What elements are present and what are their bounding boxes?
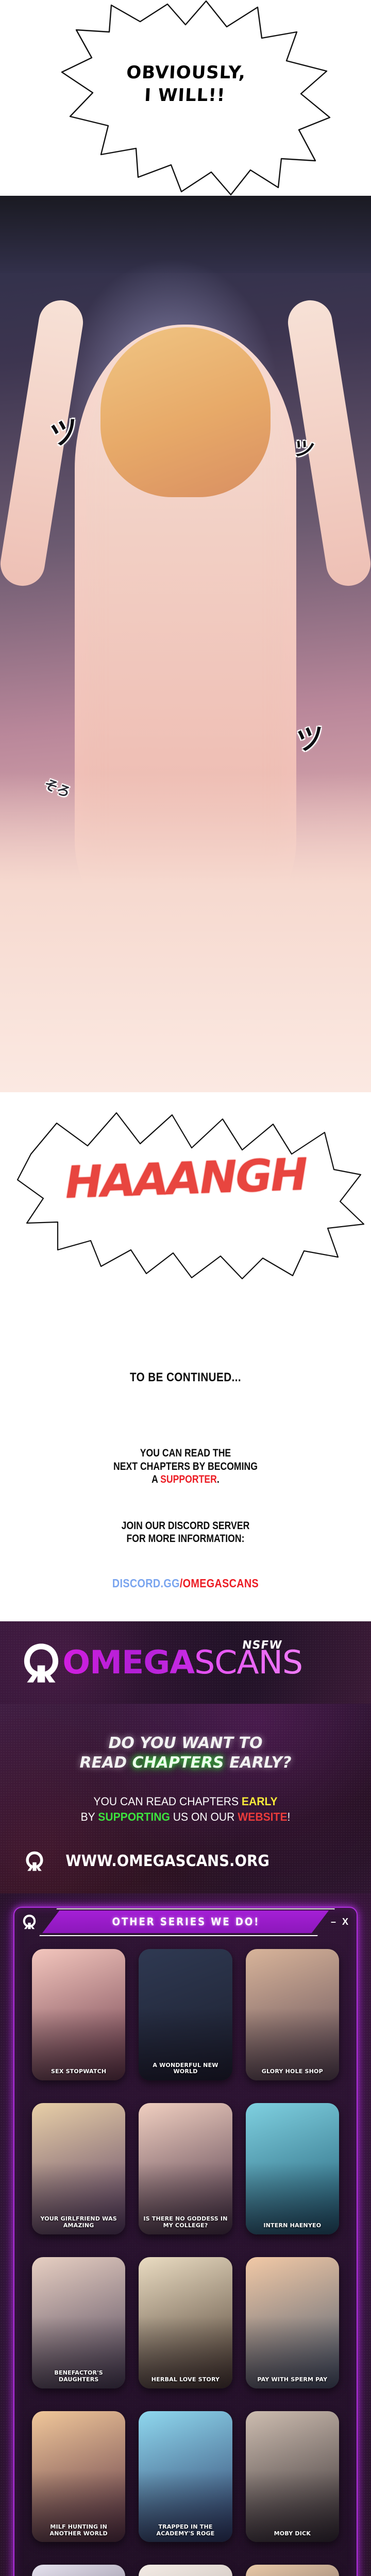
promo-headline-line-2: READ CHAPTERS EARLY? <box>0 1753 371 1773</box>
to-be-continued-title: TO BE CONTINUED... <box>26 1370 345 1385</box>
other-series-title: OTHER SERIES WE DO! <box>112 1916 260 1928</box>
promo-subtext: YOU CAN READ CHAPTERS EARLY BY SUPPORTIN… <box>7 1794 363 1824</box>
promo-sub-us: US ON OUR <box>170 1810 238 1823</box>
promo-website-link[interactable]: WWW.OMEGASCANS.ORG <box>0 1849 371 1873</box>
other-series-section: OTHER SERIES WE DO! – X SEX STOPWATCHA W… <box>0 1893 371 2576</box>
close-icon[interactable]: X <box>342 1917 348 1926</box>
series-cover-shade <box>139 2257 232 2388</box>
series-cover-shade <box>246 2103 339 2234</box>
series-title: TRAPPED IN THE ACADEMY'S ROGE <box>142 2524 229 2537</box>
series-thumbnail[interactable]: MILF HUNTING IN ANOTHER WORLD <box>32 2411 125 2543</box>
supporter-highlight: SUPPORTER <box>160 1473 217 1485</box>
character-hair <box>100 327 271 497</box>
series-cover-shade <box>139 2411 232 2543</box>
series-title: A WONDERFUL NEW WORLD <box>142 2062 229 2075</box>
series-grid: SEX STOPWATCHA WONDERFUL NEW WORLDGLORY … <box>14 1936 357 2576</box>
promo-sub-a: YOU CAN READ CHAPTERS <box>93 1795 242 1808</box>
series-title: GLORY HOLE SHOP <box>249 2069 336 2075</box>
promo-url-text: WWW.OMEGASCANS.ORG <box>65 1852 269 1870</box>
early-access-promo: DO YOU WANT TO READ CHAPTERS EARLY? YOU … <box>0 1704 371 1893</box>
series-title: MILF HUNTING IN ANOTHER WORLD <box>35 2524 122 2537</box>
series-cover-shade <box>246 1949 339 2080</box>
supporter-line-1: YOU CAN READ THE <box>30 1447 342 1460</box>
omega-logo-icon <box>18 1639 65 1686</box>
character-arm-right <box>285 297 371 589</box>
omega-word: OMEGA <box>62 1643 194 1681</box>
series-cover-shade <box>32 2565 125 2576</box>
supporter-suffix: . <box>217 1473 220 1485</box>
series-cover-shade <box>32 1949 125 2080</box>
sfx-glyph-mid-right: ツ <box>295 714 324 759</box>
series-title: BENEFACTOR'S DAUGHTERS <box>35 2370 122 2383</box>
omega-logo-icon <box>23 1849 46 1873</box>
spacer <box>0 1486 371 1519</box>
promo-headline-line-1: DO YOU WANT TO <box>0 1734 371 1753</box>
series-thumbnail[interactable]: GLORY HOLE SHOP <box>246 1949 339 2080</box>
promo-read: READ <box>80 1754 132 1772</box>
discord-path: /OMEGASCANS <box>180 1577 259 1590</box>
supporter-line-3: A SUPPORTER. <box>30 1473 342 1486</box>
supporter-message: YOU CAN READ THE NEXT CHAPTERS BY BECOMI… <box>30 1447 342 1486</box>
series-cover-shade <box>139 2103 232 2234</box>
panel-foreground-wash <box>0 773 371 1092</box>
series-thumbnail[interactable]: TRAPPED IN THE ACADEMY'S ROGE <box>139 2411 232 2543</box>
window-controls: – X <box>331 1917 348 1926</box>
series-thumbnail[interactable]: A WONDERFUL NEW WORLD <box>139 1949 232 2080</box>
comic-panel-artwork: ツ ツ ツ そろ <box>0 196 371 1092</box>
promo-sub-website: WEBSITE <box>238 1810 287 1823</box>
series-cover-shade <box>246 2565 339 2576</box>
series-thumbnail[interactable]: IS THERE NO GODDESS IN MY COLLEGE? <box>139 2103 232 2234</box>
series-cover-shade <box>246 2257 339 2388</box>
discord-message: JOIN OUR DISCORD SERVER FOR MORE INFORMA… <box>30 1519 342 1546</box>
promo-sub-early: EARLY <box>242 1795 278 1808</box>
promo-sub-supporting: SUPPORTING <box>98 1810 170 1823</box>
series-cover-shade <box>139 1949 232 2080</box>
nsfw-badge: NSFW <box>241 1639 283 1652</box>
minimize-icon[interactable]: – <box>331 1917 336 1926</box>
discord-line-2: FOR MORE INFORMATION: <box>30 1532 342 1546</box>
series-thumbnail[interactable]: PAY WITH SPERM PAY <box>246 2257 339 2388</box>
discord-line-1: JOIN OUR DISCORD SERVER <box>30 1519 342 1533</box>
supporter-prefix: A <box>151 1473 160 1485</box>
series-title: HERBAL LOVE STORY <box>142 2377 229 2383</box>
series-cover-shade <box>246 2411 339 2543</box>
promo-sub-bang: ! <box>288 1810 291 1823</box>
to-be-continued-block: TO BE CONTINUED... YOU CAN READ THE NEXT… <box>0 1309 371 1621</box>
series-thumbnail[interactable]: MY ILLUSTRATOR <box>139 2565 232 2576</box>
series-thumbnail[interactable]: ISEKAI DRAGONDICK KNIGHT COMMANDER <box>32 2565 125 2576</box>
series-title: YOUR GIRLFRIEND WAS AMAZING <box>35 2216 122 2229</box>
comic-panel-sfx-burst: HAAANGH <box>0 1092 371 1309</box>
series-cover-shade <box>32 2103 125 2234</box>
comic-panel-speech-bubble: OBVIOUSLY, I WILL!! <box>0 0 371 196</box>
promo-headline: DO YOU WANT TO READ CHAPTERS EARLY? <box>0 1734 371 1773</box>
series-cover-shade <box>139 2565 232 2576</box>
omegascans-brand-banner: OMEGASCANS NSFW <box>0 1621 371 1704</box>
series-title: IS THERE NO GODDESS IN MY COLLEGE? <box>142 2216 229 2229</box>
other-series-titlebar: OTHER SERIES WE DO! – X <box>14 1908 357 1936</box>
series-cover-shade <box>32 2257 125 2388</box>
promo-sub-line-2: BY SUPPORTING US ON OUR WEBSITE! <box>7 1809 363 1825</box>
series-thumbnail[interactable]: SEX STOPWATCH <box>32 1949 125 2080</box>
series-thumbnail[interactable]: INTERN HAENYEO <box>246 2103 339 2234</box>
promo-sub-by: BY <box>81 1810 98 1823</box>
other-series-window: OTHER SERIES WE DO! – X SEX STOPWATCHA W… <box>13 1907 358 2576</box>
discord-invite-link[interactable]: DISCORD.GG/OMEGASCANS <box>26 1546 345 1590</box>
spacer <box>0 1385 371 1447</box>
series-thumbnail[interactable]: MOBY DICK <box>246 2411 339 2543</box>
series-thumbnail[interactable]: HERBAL LOVE STORY <box>139 2257 232 2388</box>
speech-bubble-text: OBVIOUSLY, I WILL!! <box>0 62 371 107</box>
series-title: MOBY DICK <box>249 2531 336 2537</box>
series-thumbnail[interactable]: YOUR GIRLFRIEND WAS AMAZING <box>32 2103 125 2234</box>
omega-logo-icon <box>21 1913 38 1930</box>
speech-line-1: OBVIOUSLY, <box>0 62 371 84</box>
discord-domain: DISCORD.GG <box>112 1577 180 1590</box>
series-thumbnail[interactable]: GOLDEN FACADE <box>246 2565 339 2576</box>
other-series-title-plate: OTHER SERIES WE DO! <box>42 1910 352 1933</box>
webtoon-page: OBVIOUSLY, I WILL!! ツ ツ ツ そろ HAAANGH TO … <box>0 0 371 2576</box>
speech-line-2: I WILL!! <box>0 84 371 107</box>
series-cover-shade <box>32 2411 125 2543</box>
series-title: PAY WITH SPERM PAY <box>249 2377 336 2383</box>
promo-early: EARLY? <box>224 1754 292 1772</box>
supporter-line-2: NEXT CHAPTERS BY BECOMING <box>30 1460 342 1473</box>
series-thumbnail[interactable]: BENEFACTOR'S DAUGHTERS <box>32 2257 125 2388</box>
series-title: INTERN HAENYEO <box>249 2223 336 2229</box>
series-title: SEX STOPWATCH <box>35 2069 122 2075</box>
promo-chapters: CHAPTERS <box>132 1754 224 1772</box>
promo-sub-line-1: YOU CAN READ CHAPTERS EARLY <box>7 1794 363 1809</box>
